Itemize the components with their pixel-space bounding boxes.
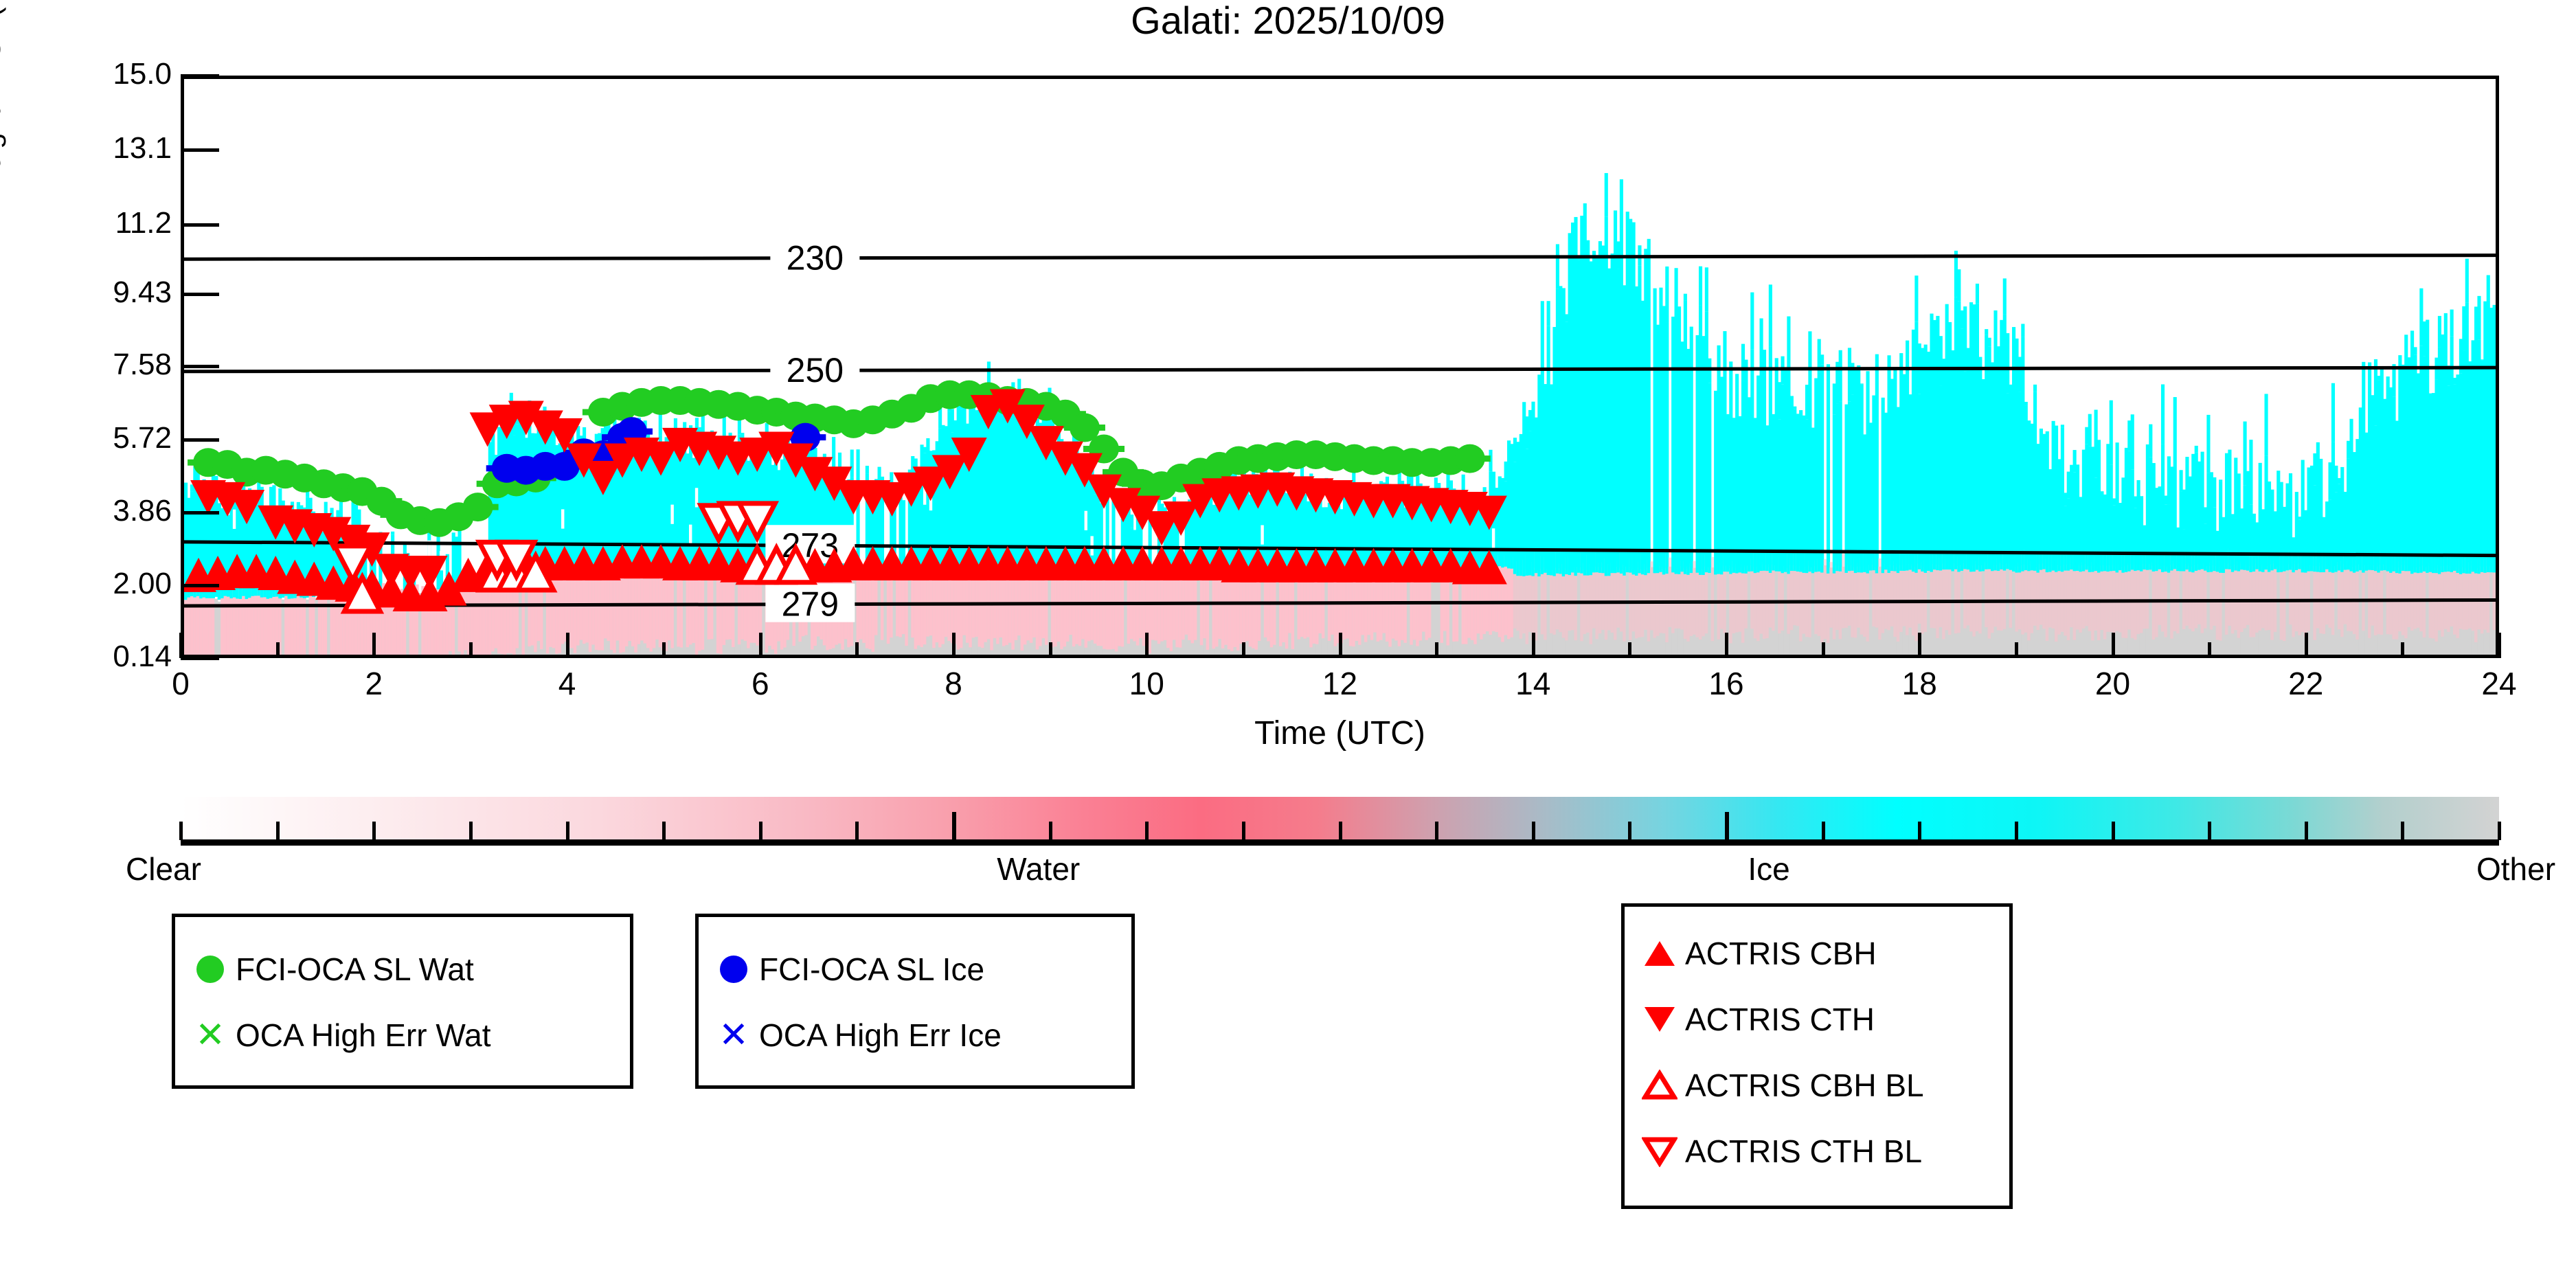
legend-item[interactable]: ✕ OCA High Err Ice — [708, 1002, 1131, 1068]
x-tick-minor-mark — [855, 642, 859, 658]
colorbar-tick — [855, 822, 859, 840]
y-tick-label: 15.0 — [27, 59, 172, 89]
x-tick-mark — [566, 633, 569, 658]
legend-item[interactable]: ACTRIS CTH BL — [1634, 1118, 2009, 1184]
y-tick-label: 13.1 — [27, 133, 172, 163]
colorbar-tick — [1435, 822, 1438, 840]
x-tick-label: 4 — [512, 668, 622, 699]
x-marker: ✕ — [708, 1017, 759, 1053]
colorbar-tick — [372, 822, 376, 840]
x-tick-mark — [2112, 633, 2115, 658]
y-tick-mark — [181, 657, 219, 660]
colorbar-tick — [1822, 822, 1825, 840]
triangle-down-open-marker — [1634, 1136, 1685, 1167]
colorbar-tick — [759, 822, 762, 840]
colorbar-tick — [2208, 822, 2211, 840]
legend-item[interactable]: FCI-OCA SL Ice — [708, 936, 1131, 1002]
x-tick-mark — [759, 633, 762, 658]
x-tick-label: 6 — [705, 668, 815, 699]
x-tick-mark — [179, 633, 183, 658]
x-tick-mark — [372, 633, 376, 658]
legend-item[interactable]: ACTRIS CBH — [1634, 920, 2009, 986]
x-tick-minor-mark — [1628, 642, 1631, 658]
legend-item-label: ACTRIS CTH — [1685, 1004, 1875, 1035]
colorbar-label: Clear — [126, 850, 201, 888]
y-tick-label: 9.43 — [27, 278, 172, 308]
legend-item-label: FCI-OCA SL Ice — [759, 953, 984, 985]
triangle-up-filled-marker — [1634, 938, 1685, 969]
y-tick-label: 11.2 — [27, 208, 172, 238]
colorbar-tick — [1532, 822, 1535, 840]
colorbar-tick — [2015, 822, 2018, 840]
y-tick-mark — [181, 365, 219, 368]
colorbar-tick — [662, 822, 666, 840]
legend-item[interactable]: FCI-OCA SL Wat — [185, 936, 630, 1002]
colorbar-tick — [2305, 822, 2308, 840]
colorbar-axis-line — [181, 839, 2499, 846]
colorbar-tick — [1725, 812, 1729, 840]
x-tick-label: 12 — [1285, 668, 1395, 699]
legend-item[interactable]: ✕ OCA High Err Wat — [185, 1002, 630, 1068]
colorbar-tick — [179, 822, 183, 840]
y-tick-label: 5.72 — [27, 423, 172, 453]
legend-item-label: ACTRIS CTH BL — [1685, 1136, 1922, 1167]
colorbar-tick — [1918, 822, 1921, 840]
x-tick-minor-mark — [2208, 642, 2211, 658]
legend-fci-oca-ice[interactable]: FCI-OCA SL Ice ✕ OCA High Err Ice — [695, 914, 1135, 1089]
circle-marker — [185, 956, 236, 983]
triangle-up-open-marker — [1634, 1070, 1685, 1101]
colorbar-tick — [1242, 822, 1245, 840]
x-tick-minor-mark — [1822, 642, 1825, 658]
colorbar-tick — [2498, 822, 2501, 840]
x-tick-minor-mark — [1049, 642, 1052, 658]
colorbar-label: Other — [2476, 850, 2555, 888]
colorbar-label: Ice — [1748, 850, 1789, 888]
legend-item-label: OCA High Err Ice — [759, 1019, 1002, 1051]
x-tick-label: 0 — [126, 668, 236, 699]
y-tick-mark — [181, 293, 219, 296]
colorbar-tick — [2401, 822, 2404, 840]
legend-item[interactable]: ACTRIS CBH BL — [1634, 1052, 2009, 1118]
x-tick-label: 10 — [1092, 668, 1201, 699]
x-tick-label: 24 — [2444, 668, 2554, 699]
x-tick-mark — [1145, 633, 1149, 658]
y-tick-mark — [181, 584, 219, 587]
y-tick-mark — [181, 511, 219, 515]
colorbar-tick — [2112, 822, 2115, 840]
y-tick-mark — [181, 223, 219, 227]
circle-marker — [708, 956, 759, 983]
x-marker: ✕ — [185, 1017, 236, 1053]
x-tick-minor-mark — [2015, 642, 2018, 658]
x-tick-mark — [2305, 633, 2308, 658]
x-tick-minor-mark — [1435, 642, 1438, 658]
colorbar-tick — [276, 822, 280, 840]
svg-text:230: 230 — [787, 239, 844, 278]
colorbar-tick — [1628, 822, 1631, 840]
legend-item-label: ACTRIS CBH — [1685, 938, 1877, 969]
colorbar-tick — [952, 812, 956, 840]
svg-text:279: 279 — [782, 585, 839, 624]
x-tick-label: 2 — [319, 668, 429, 699]
x-tick-minor-mark — [2401, 642, 2404, 658]
x-tick-label: 16 — [1671, 668, 1781, 699]
x-tick-mark — [2498, 633, 2501, 658]
x-tick-label: 20 — [2058, 668, 2168, 699]
legend-actris[interactable]: ACTRIS CBH ACTRIS CTH ACTRIS CBH BL ACTR… — [1621, 903, 2013, 1209]
y-tick-mark — [181, 438, 219, 442]
y-tick-label: 7.58 — [27, 350, 172, 380]
x-tick-minor-mark — [276, 642, 280, 658]
legend-item-label: FCI-OCA SL Wat — [236, 953, 474, 985]
colorbar-tick — [1049, 822, 1052, 840]
plot-svg: 230250273279 — [184, 79, 2496, 655]
x-tick-mark — [1918, 633, 1921, 658]
colorbar-label: Water — [997, 850, 1080, 888]
x-tick-mark — [1339, 633, 1342, 658]
triangle-down-filled-marker — [1634, 1004, 1685, 1035]
colorbar-tick — [566, 822, 569, 840]
x-tick-minor-mark — [662, 642, 666, 658]
page-title: Galati: 2025/10/09 — [0, 1, 2576, 40]
x-axis-label: Time (UTC) — [181, 714, 2499, 752]
y-tick-mark — [181, 148, 219, 152]
legend-item-label: OCA High Err Wat — [236, 1019, 490, 1051]
x-tick-minor-mark — [469, 642, 473, 658]
colorbar-tick — [1339, 822, 1342, 840]
x-tick-label: 14 — [1478, 668, 1588, 699]
y-axis-tick-labels: 15.013.111.29.437.585.723.862.000.14 — [0, 0, 172, 687]
y-tick-label: 3.86 — [27, 496, 172, 526]
legend-item[interactable]: ACTRIS CTH — [1634, 986, 2009, 1052]
x-tick-label: 22 — [2251, 668, 2361, 699]
x-tick-label: 18 — [1864, 668, 1974, 699]
x-tick-mark — [1725, 633, 1728, 658]
y-tick-mark — [181, 74, 219, 78]
legend-item-label: ACTRIS CBH BL — [1685, 1070, 1924, 1101]
cloud-profile-plot[interactable]: 230250273279 — [181, 76, 2499, 658]
x-tick-mark — [1532, 633, 1535, 658]
colorbar-tick — [469, 822, 473, 840]
y-tick-label: 2.00 — [27, 569, 172, 599]
svg-text:250: 250 — [787, 351, 844, 389]
colorbar-tick — [1145, 822, 1149, 840]
x-tick-minor-mark — [1242, 642, 1245, 658]
legend-fci-oca-water[interactable]: FCI-OCA SL Wat ✕ OCA High Err Wat — [172, 914, 633, 1089]
x-tick-mark — [952, 633, 956, 658]
x-tick-label: 8 — [899, 668, 1008, 699]
